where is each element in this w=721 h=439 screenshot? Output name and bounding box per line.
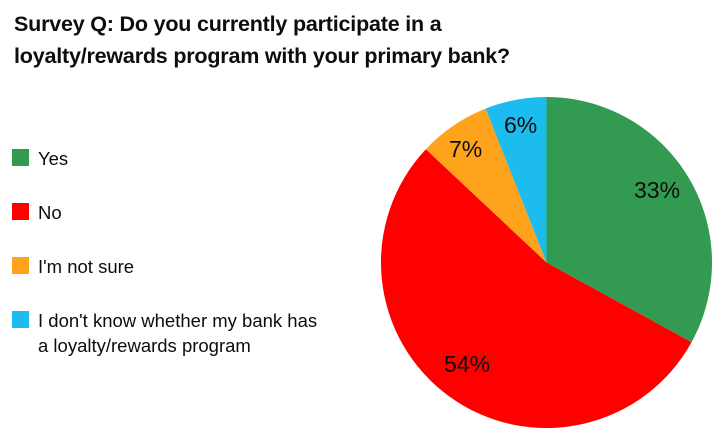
legend-item-yes[interactable]: Yes	[12, 146, 68, 171]
legend-swatch-icon-no	[12, 203, 29, 220]
legend-swatch-icon-dont-know	[12, 311, 29, 328]
pie-chart: 33% 54% 7% 6%	[381, 97, 712, 428]
legend-label-not-sure: I'm not sure	[38, 254, 134, 279]
legend-item-not-sure[interactable]: I'm not sure	[12, 254, 134, 279]
chart-title: Survey Q: Do you currently participate i…	[14, 8, 704, 72]
legend-swatch-icon-not-sure	[12, 257, 29, 274]
pie-chart-svg	[381, 97, 712, 428]
pie-slice-label-not-sure: 7%	[449, 138, 482, 161]
legend-item-no[interactable]: No	[12, 200, 62, 225]
pie-slice-group	[381, 97, 712, 428]
legend-label-yes: Yes	[38, 146, 68, 171]
legend-item-dont-know[interactable]: I don't know whether my bank has a loyal…	[12, 308, 317, 358]
chart-title-line-2: loyalty/rewards program with your primar…	[14, 40, 704, 72]
legend-label-no: No	[38, 200, 62, 225]
pie-slice-label-no: 54%	[444, 353, 490, 376]
chart-title-line-1: Survey Q: Do you currently participate i…	[14, 8, 704, 40]
legend-swatch-icon-yes	[12, 149, 29, 166]
legend-label-dont-know: I don't know whether my bank has a loyal…	[38, 308, 317, 358]
pie-slice-label-dont-know: 6%	[504, 114, 537, 137]
pie-slice-label-yes: 33%	[634, 179, 680, 202]
